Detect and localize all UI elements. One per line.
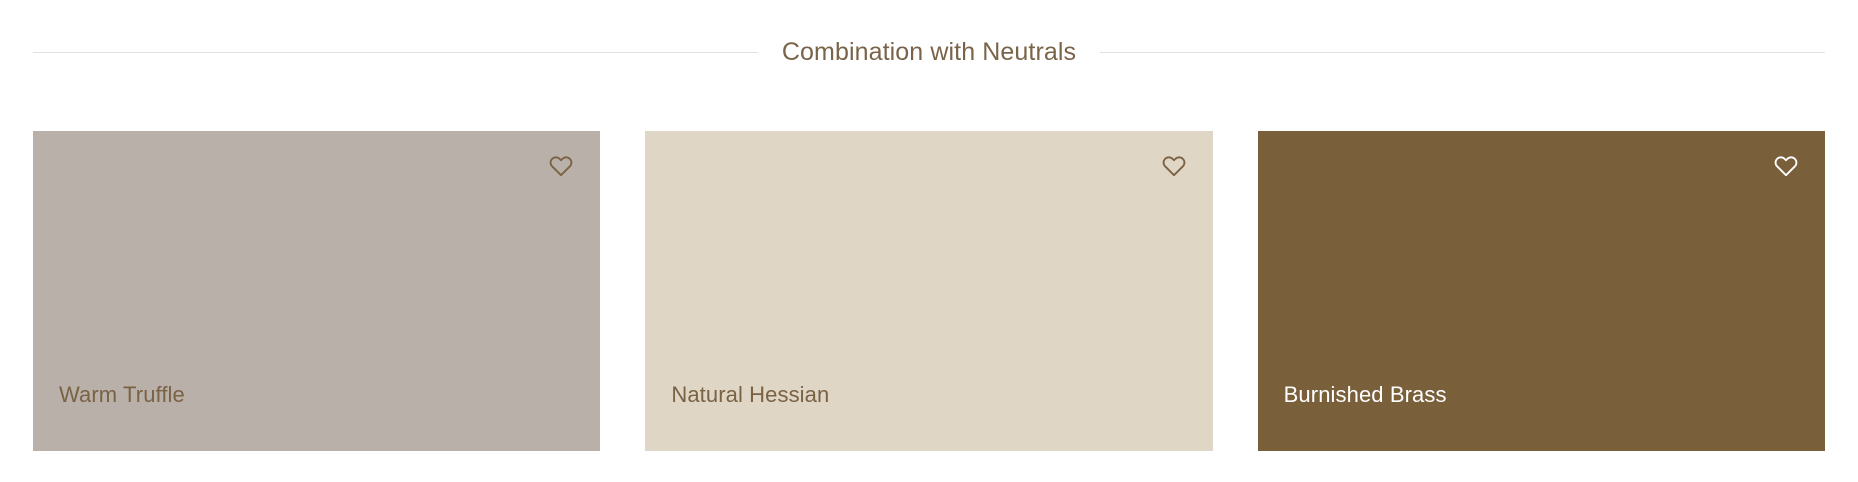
heart-outline-icon	[1773, 153, 1799, 179]
neutrals-combination-section: Combination with Neutrals Warm Truffle N…	[0, 0, 1858, 482]
heart-outline-icon	[548, 153, 574, 179]
swatch-grid: Warm Truffle Natural Hessian Burnished B…	[33, 131, 1825, 451]
section-title: Combination with Neutrals	[782, 40, 1076, 65]
divider-right	[1100, 52, 1825, 53]
swatch-label: Warm Truffle	[59, 384, 185, 406]
swatch-card-warm-truffle[interactable]: Warm Truffle	[33, 131, 600, 451]
favorite-button[interactable]	[544, 149, 578, 183]
swatch-label: Natural Hessian	[671, 384, 829, 406]
favorite-button[interactable]	[1769, 149, 1803, 183]
section-header: Combination with Neutrals	[33, 28, 1825, 76]
swatch-card-natural-hessian[interactable]: Natural Hessian	[645, 131, 1212, 451]
swatch-label: Burnished Brass	[1284, 384, 1447, 406]
favorite-button[interactable]	[1157, 149, 1191, 183]
divider-left	[33, 52, 758, 53]
heart-outline-icon	[1161, 153, 1187, 179]
swatch-card-burnished-brass[interactable]: Burnished Brass	[1258, 131, 1825, 451]
